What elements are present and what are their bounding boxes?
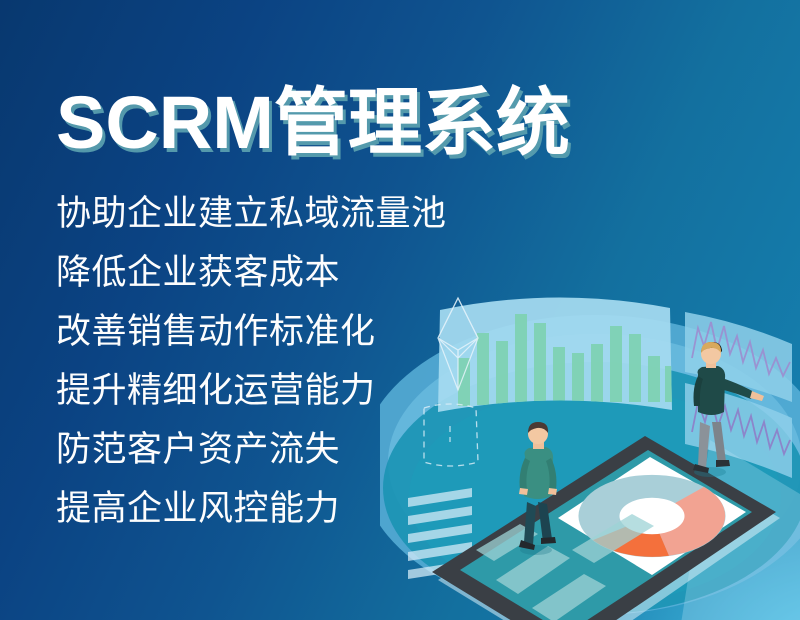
feature-list: 协助企业建立私域流量池 降低企业获客成本 改善销售动作标准化 提升精细化运营能力… [56, 196, 447, 550]
list-item: 提高企业风控能力 [56, 491, 447, 526]
list-item: 降低企业获客成本 [56, 255, 447, 290]
page-title: SCRM管理系统 [56, 86, 570, 160]
text-content: SCRM管理系统 协助企业建立私域流量池 降低企业获客成本 改善销售动作标准化 … [0, 0, 800, 620]
scrm-promo-banner: SCRM管理系统 协助企业建立私域流量池 降低企业获客成本 改善销售动作标准化 … [0, 0, 800, 620]
list-item: 提升精细化运营能力 [56, 373, 447, 408]
list-item: 防范客户资产流失 [56, 432, 447, 467]
list-item: 改善销售动作标准化 [56, 314, 447, 349]
list-item: 协助企业建立私域流量池 [56, 196, 447, 231]
